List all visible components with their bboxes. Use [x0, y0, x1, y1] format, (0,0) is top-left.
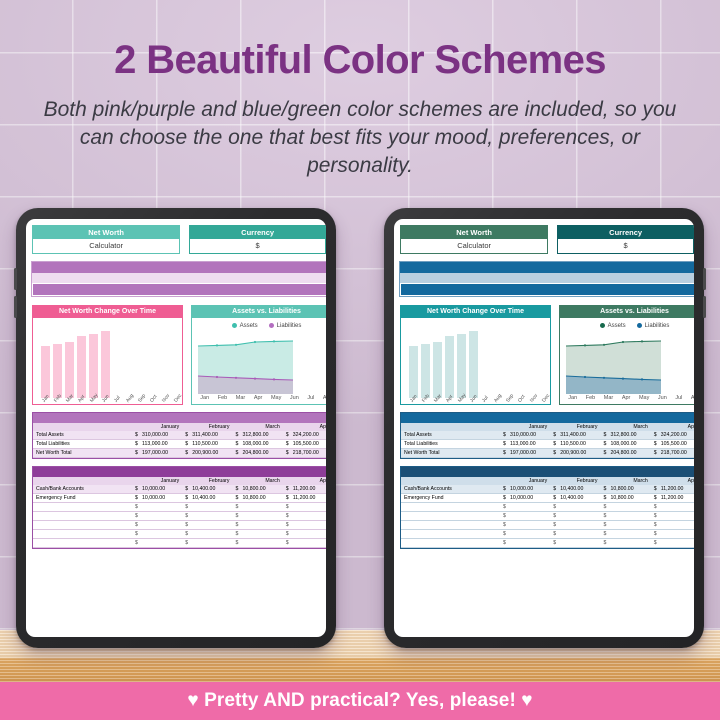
charts-row: Net Worth Change Over Time Jan F [400, 305, 694, 405]
currency-card: Currency $ [189, 225, 326, 254]
amount: 324,200.00 [661, 432, 687, 438]
cell-value[interactable]: $ [132, 539, 182, 548]
currency-symbol: $ [135, 540, 142, 546]
cell-value[interactable]: $200,900.00 [550, 449, 600, 458]
row-label [401, 521, 500, 530]
power-button-icon[interactable] [14, 296, 17, 318]
cell-value[interactable]: $ [500, 503, 550, 512]
cell-value[interactable]: $10,000.00 [500, 494, 550, 503]
cell-value[interactable]: $312,800.00 [233, 431, 283, 440]
currency-symbol: $ [503, 504, 510, 510]
th-month: April [651, 477, 694, 485]
table-row[interactable]: Emergency Fund $10,000.00 $10,400.00 $10… [401, 494, 694, 503]
currency-symbol: $ [553, 522, 560, 528]
sheet-title-row: Net Worth Calculator Currency $ [32, 225, 326, 254]
month-label: Apr [254, 395, 263, 401]
amount: 197,000.00 [510, 450, 536, 456]
cell-value[interactable]: $11,200.00 [283, 494, 326, 503]
table-row[interactable]: $$$$ [401, 530, 694, 539]
amount: 10,400.00 [192, 486, 215, 492]
amount: 10,800.00 [243, 495, 266, 501]
currency-symbol: $ [236, 441, 243, 447]
charts-row: Net Worth Change Over Time Jan F [32, 305, 326, 405]
th-blank [401, 423, 500, 431]
cell-value[interactable]: $310,000.00 [132, 431, 182, 440]
table-row[interactable]: $$$$ [33, 503, 326, 512]
table-header-row: January February March April [33, 477, 326, 485]
net-worth-title-value[interactable]: Calculator [33, 239, 179, 253]
table-row[interactable]: $$$$ [401, 503, 694, 512]
currency-symbol: $ [503, 450, 510, 456]
bar [77, 336, 86, 398]
table-row[interactable]: Cash/Bank Accounts $10,000.00 $10,400.00… [401, 485, 694, 494]
amount: 110,500.00 [192, 441, 218, 447]
cell-value[interactable]: $ [233, 530, 283, 539]
row-label [401, 512, 500, 521]
cell-value[interactable]: $11,200.00 [651, 485, 694, 494]
amount: 11,200.00 [293, 495, 316, 501]
currency-symbol: $ [286, 540, 293, 546]
currency-symbol: $ [286, 432, 293, 438]
amount: 218,700.00 [293, 450, 319, 456]
amount: 10,000.00 [142, 486, 165, 492]
th-month: February [182, 477, 232, 485]
month-label: Mar [236, 395, 245, 401]
bar-chart-body: Jan Feb Mar Apr May Jun Jul Aug Sep Oct … [33, 318, 182, 416]
currency-symbol: $ [604, 450, 611, 456]
currency-symbol: $ [553, 531, 560, 537]
currency-symbol: $ [286, 486, 293, 492]
page-subtitle: Both pink/purple and blue/green color sc… [38, 96, 682, 180]
legend-item-assets: Assets [600, 323, 626, 329]
cell-value[interactable]: $113,000.00 [132, 440, 182, 449]
row-label: Emergency Fund [33, 494, 132, 503]
legend-dot-liabilities [269, 323, 274, 328]
assets-liabilities-area-chart: Assets vs. Liabilities Assets Liabilitie… [191, 305, 326, 405]
assets-table-block: January February March April Cash/Bank A… [400, 466, 694, 549]
tablet-device-left: Net Worth Calculator Currency $ Net Wort… [16, 208, 336, 648]
net-worth-title-value[interactable]: Calculator [401, 239, 547, 253]
cell-value[interactable]: $10,400.00 [182, 485, 232, 494]
currency-symbol: $ [654, 441, 661, 447]
cell-value[interactable]: $10,000.00 [132, 485, 182, 494]
area-chart-svg [192, 332, 326, 394]
currency-symbol: $ [236, 432, 243, 438]
net-worth-bar-chart: Net Worth Change Over Time Jan F [400, 305, 551, 405]
cell-value[interactable]: $ [601, 503, 651, 512]
currency-symbol: $ [135, 432, 142, 438]
currency-symbol: $ [553, 540, 560, 546]
month-label: Dec [173, 393, 191, 410]
table-row[interactable]: $$$$ [401, 512, 694, 521]
amount: 11,200.00 [661, 486, 684, 492]
page-title: 2 Beautiful Color Schemes [0, 38, 720, 83]
th-month: April [283, 423, 326, 431]
table-row[interactable]: Total Assets $310,000.00 $311,400.00 $31… [33, 431, 326, 440]
table-row[interactable]: Total Liabilities $113,000.00 $110,500.0… [401, 440, 694, 449]
amount: 197,000.00 [142, 450, 168, 456]
cell-value[interactable]: $ [500, 530, 550, 539]
amount: 311,400.00 [560, 432, 586, 438]
cell-value[interactable]: $204,800.00 [233, 449, 283, 458]
amount: 324,200.00 [293, 432, 319, 438]
month-label: Jul [307, 395, 314, 401]
table-row[interactable]: Net Worth Total $197,000.00 $200,900.00 … [401, 449, 694, 458]
legend-item-liabilities: Liabilities [637, 323, 670, 329]
assets-table-caption-bar [33, 467, 326, 477]
cell-value[interactable]: $ [550, 512, 600, 521]
row-label: Emergency Fund [401, 494, 500, 503]
cell-value[interactable]: $10,800.00 [601, 485, 651, 494]
currency-header: Currency [558, 226, 693, 239]
legend-label-liabilities: Liabilities [277, 324, 302, 330]
cell-value[interactable]: $ [233, 512, 283, 521]
th-month: February [550, 477, 600, 485]
cell-value[interactable]: $10,800.00 [233, 494, 283, 503]
currency-card: Currency $ [557, 225, 694, 254]
amount: 311,400.00 [192, 432, 218, 438]
cell-value[interactable]: $ [182, 512, 232, 521]
currency-symbol: $ [185, 522, 192, 528]
amount: 105,500.00 [293, 441, 319, 447]
row-label [33, 539, 132, 548]
cell-value[interactable]: $10,400.00 [550, 485, 600, 494]
currency-symbol: $ [185, 540, 192, 546]
cell-value[interactable]: $ [233, 539, 283, 548]
bar-chart-month-labels: Jan Feb Mar Apr May Jun Jul Aug Sep Oct … [401, 398, 550, 416]
net-worth-title-card: Net Worth Calculator [400, 225, 548, 254]
cell-value[interactable]: $204,800.00 [601, 449, 651, 458]
amount: 200,900.00 [560, 450, 586, 456]
bar [457, 334, 466, 398]
cell-value[interactable]: $ [283, 512, 326, 521]
currency-symbol: $ [654, 495, 661, 501]
currency-symbol: $ [654, 450, 661, 456]
month-label: Jun [658, 395, 667, 401]
legend-dot-liabilities [637, 323, 642, 328]
assets-table: January February March April Cash/Bank A… [33, 477, 326, 548]
summary-table: January February March April Total Asset… [401, 423, 694, 458]
cell-value[interactable]: $197,000.00 [132, 449, 182, 458]
amount: 10,000.00 [510, 486, 533, 492]
row-label: Cash/Bank Accounts [401, 485, 500, 494]
cell-value[interactable]: $10,000.00 [500, 485, 550, 494]
banner-bars-group [400, 262, 694, 296]
legend-dot-assets [600, 323, 605, 328]
table-row[interactable]: $$$$ [33, 539, 326, 548]
cell-value[interactable]: $108,000.00 [233, 440, 283, 449]
cell-value[interactable]: $ [601, 539, 651, 548]
table-header-row: January February March April [33, 423, 326, 431]
cell-value[interactable]: $197,000.00 [500, 449, 550, 458]
legend-label-liabilities: Liabilities [645, 324, 670, 330]
currency-symbol: $ [236, 513, 243, 519]
currency-symbol: $ [503, 486, 510, 492]
th-month: April [283, 477, 326, 485]
currency-symbol: $ [654, 486, 661, 492]
cell-value[interactable]: $113,000.00 [500, 440, 550, 449]
cell-value[interactable]: $ [233, 503, 283, 512]
row-label [33, 503, 132, 512]
cell-value[interactable]: $ [182, 503, 232, 512]
cell-value[interactable]: $ [601, 512, 651, 521]
cell-value[interactable]: $110,500.00 [550, 440, 600, 449]
cell-value[interactable]: $ [601, 530, 651, 539]
cell-value[interactable]: $ [283, 503, 326, 512]
amount: 310,000.00 [510, 432, 536, 438]
cell-value[interactable]: $310,000.00 [500, 431, 550, 440]
currency-symbol: $ [236, 495, 243, 501]
cell-value[interactable]: $10,400.00 [182, 494, 232, 503]
cell-value[interactable]: $ [132, 521, 182, 530]
month-label: May [271, 395, 281, 401]
cell-value[interactable]: $ [550, 503, 600, 512]
cell-value[interactable]: $10,000.00 [132, 494, 182, 503]
bar [445, 336, 454, 398]
cell-value[interactable]: $11,200.00 [651, 494, 694, 503]
month-label: Jun [290, 395, 299, 401]
bar-chart-plot [33, 318, 182, 398]
row-label [33, 521, 132, 530]
month-label: Feb [586, 395, 595, 401]
banner-bar-pale [32, 273, 326, 283]
amount: 108,000.00 [611, 441, 637, 447]
volume-button-icon[interactable] [14, 268, 17, 290]
legend-label-assets: Assets [240, 324, 258, 330]
amount: 11,200.00 [293, 486, 316, 492]
spreadsheet-pink-purple: Net Worth Calculator Currency $ Net Wort… [26, 219, 326, 637]
cell-value[interactable]: $ [132, 512, 182, 521]
cell-value[interactable]: $105,500.00 [651, 440, 694, 449]
currency-symbol: $ [604, 432, 611, 438]
amount: 204,800.00 [243, 450, 269, 456]
th-month: January [500, 423, 550, 431]
currency-symbol: $ [236, 522, 243, 528]
banner-bar-secondary [32, 283, 326, 296]
cell-value[interactable]: $108,000.00 [601, 440, 651, 449]
currency-symbol: $ [654, 540, 661, 546]
cell-value[interactable]: $324,200.00 [283, 431, 326, 440]
tablet-device-right: Net Worth Calculator Currency $ Net Wort… [384, 208, 704, 648]
cell-value[interactable]: $311,400.00 [182, 431, 232, 440]
cell-value[interactable]: $218,700.00 [283, 449, 326, 458]
volume-button-icon[interactable] [703, 268, 706, 290]
tablet-screen-right: Net Worth Calculator Currency $ Net Wort… [394, 219, 694, 637]
net-worth-title-card: Net Worth Calculator [32, 225, 180, 254]
cell-value[interactable]: $ [233, 521, 283, 530]
table-row[interactable]: Emergency Fund $10,000.00 $10,400.00 $10… [33, 494, 326, 503]
cell-value[interactable]: $311,400.00 [550, 431, 600, 440]
table-row[interactable]: $$$$ [33, 530, 326, 539]
table-header-row: January February March April [401, 423, 694, 431]
cell-value[interactable]: $ [283, 530, 326, 539]
banner-bar-pale [400, 273, 694, 283]
currency-symbol: $ [654, 513, 661, 519]
row-label: Total Assets [401, 431, 500, 440]
currency-symbol: $ [286, 504, 293, 510]
cell-value[interactable]: $110,500.00 [182, 440, 232, 449]
amount: 10,400.00 [192, 495, 215, 501]
month-label: Dec [541, 393, 559, 410]
currency-symbol: $ [604, 513, 611, 519]
th-month: March [601, 477, 651, 485]
bar [101, 331, 110, 398]
net-worth-title-header: Net Worth [33, 226, 179, 239]
cell-value[interactable]: $ [283, 521, 326, 530]
month-label: Aug [323, 395, 326, 401]
banner-bars-group [32, 262, 326, 296]
th-month: March [233, 477, 283, 485]
currency-symbol: $ [135, 531, 142, 537]
cell-value[interactable]: $ [500, 539, 550, 548]
currency-symbol: $ [604, 495, 611, 501]
power-button-icon[interactable] [703, 296, 706, 318]
cell-value[interactable]: $ [550, 521, 600, 530]
area-chart-body: Assets Liabilities Jan [192, 318, 326, 401]
amount: 218,700.00 [661, 450, 687, 456]
row-label: Net Worth Total [401, 449, 500, 458]
currency-symbol: $ [503, 531, 510, 537]
amount: 200,900.00 [192, 450, 218, 456]
table-row[interactable]: Cash/Bank Accounts $10,000.00 $10,400.00… [33, 485, 326, 494]
table-header-row: January February March April [401, 477, 694, 485]
cell-value[interactable]: $10,800.00 [601, 494, 651, 503]
currency-symbol: $ [503, 513, 510, 519]
cell-value[interactable]: $10,400.00 [550, 494, 600, 503]
spreadsheet-blue-green: Net Worth Calculator Currency $ Net Wort… [394, 219, 694, 637]
cell-value[interactable]: $11,200.00 [283, 485, 326, 494]
area-chart-month-labels: Jan Feb Mar Apr May Jun Jul Aug [192, 394, 326, 401]
cell-value[interactable]: $ [132, 503, 182, 512]
cell-value[interactable]: $200,900.00 [182, 449, 232, 458]
currency-symbol: $ [503, 432, 510, 438]
cell-value[interactable]: $ [651, 539, 694, 548]
amount: 113,000.00 [510, 441, 536, 447]
month-label: Jan [200, 395, 209, 401]
amount: 10,400.00 [560, 495, 583, 501]
row-label: Total Assets [33, 431, 132, 440]
currency-symbol: $ [503, 522, 510, 528]
cell-value[interactable]: $ [182, 521, 232, 530]
amount: 10,400.00 [560, 486, 583, 492]
currency-symbol: $ [135, 450, 142, 456]
cell-value[interactable]: $ [601, 521, 651, 530]
cell-value[interactable]: $ [500, 512, 550, 521]
cell-value[interactable]: $ [651, 521, 694, 530]
bar-chart-body: Jan Feb Mar Apr May Jun Jul Aug Sep Oct … [401, 318, 550, 416]
th-month: February [182, 423, 232, 431]
bar-chart-title: Net Worth Change Over Time [33, 306, 182, 318]
table-row[interactable]: $$$$ [33, 521, 326, 530]
th-blank [33, 423, 132, 431]
currency-symbol: $ [503, 441, 510, 447]
row-label [401, 539, 500, 548]
th-month: January [132, 423, 182, 431]
cell-value[interactable]: $ [550, 530, 600, 539]
table-row[interactable]: Total Liabilities $113,000.00 $110,500.0… [33, 440, 326, 449]
area-chart-body: Assets Liabilities Jan [560, 318, 694, 401]
currency-symbol: $ [185, 504, 192, 510]
assets-liabilities-area-chart: Assets vs. Liabilities Assets Liabilitie… [559, 305, 694, 405]
cell-value[interactable]: $10,800.00 [233, 485, 283, 494]
th-month: April [651, 423, 694, 431]
cell-value[interactable]: $ [651, 530, 694, 539]
legend-item-assets: Assets [232, 323, 258, 329]
assets-table-block: January February March April Cash/Bank A… [32, 466, 326, 549]
amount: 113,000.00 [142, 441, 168, 447]
summary-table-block: January February March April Total Asset… [32, 412, 326, 459]
table-row[interactable]: Net Worth Total $197,000.00 $200,900.00 … [33, 449, 326, 458]
cell-value[interactable]: $ [283, 539, 326, 548]
cell-value[interactable]: $ [651, 503, 694, 512]
table-row[interactable]: $$$$ [401, 521, 694, 530]
bottom-banner: ♥ Pretty AND practical? Yes, please! ♥ [0, 682, 720, 720]
currency-symbol: $ [604, 531, 611, 537]
cell-value[interactable]: $312,800.00 [601, 431, 651, 440]
table-row[interactable]: $$$$ [401, 539, 694, 548]
amount: 312,800.00 [611, 432, 637, 438]
row-label: Total Liabilities [33, 440, 132, 449]
currency-symbol: $ [604, 522, 611, 528]
currency-symbol: $ [654, 522, 661, 528]
bar [433, 342, 442, 398]
table-row[interactable]: Total Assets $310,000.00 $311,400.00 $31… [401, 431, 694, 440]
th-month: January [500, 477, 550, 485]
currency-header: Currency [190, 226, 325, 239]
tablet-screen-left: Net Worth Calculator Currency $ Net Wort… [26, 219, 326, 637]
legend-dot-assets [232, 323, 237, 328]
currency-symbol: $ [135, 513, 142, 519]
cell-value[interactable]: $ [182, 530, 232, 539]
area-chart-legend: Assets Liabilities [560, 318, 694, 332]
currency-value[interactable]: $ [190, 239, 325, 253]
cell-value[interactable]: $105,500.00 [283, 440, 326, 449]
bar [409, 346, 418, 398]
area-chart-title: Assets vs. Liabilities [192, 306, 326, 318]
currency-symbol: $ [654, 504, 661, 510]
cell-value[interactable]: $324,200.00 [651, 431, 694, 440]
amount: 10,800.00 [243, 486, 266, 492]
summary-table-block: January February March April Total Asset… [400, 412, 694, 459]
currency-symbol: $ [553, 513, 560, 519]
cell-value[interactable]: $ [182, 539, 232, 548]
currency-symbol: $ [654, 432, 661, 438]
row-label [401, 530, 500, 539]
currency-symbol: $ [286, 513, 293, 519]
currency-symbol: $ [135, 504, 142, 510]
assets-table: January February March April Cash/Bank A… [401, 477, 694, 548]
currency-symbol: $ [236, 450, 243, 456]
currency-symbol: $ [604, 441, 611, 447]
currency-value[interactable]: $ [558, 239, 693, 253]
amount: 10,800.00 [611, 495, 634, 501]
currency-symbol: $ [654, 531, 661, 537]
legend-item-liabilities: Liabilities [269, 323, 302, 329]
cell-value[interactable]: $ [500, 521, 550, 530]
currency-symbol: $ [604, 504, 611, 510]
cell-value[interactable]: $ [132, 530, 182, 539]
cell-value[interactable]: $ [651, 512, 694, 521]
month-label: Feb [218, 395, 227, 401]
currency-symbol: $ [503, 540, 510, 546]
cell-value[interactable]: $218,700.00 [651, 449, 694, 458]
legend-label-assets: Assets [608, 324, 626, 330]
cell-value[interactable]: $ [550, 539, 600, 548]
th-month: March [601, 423, 651, 431]
currency-symbol: $ [135, 486, 142, 492]
banner-bar-secondary [400, 283, 694, 296]
table-row[interactable]: $$$$ [33, 512, 326, 521]
